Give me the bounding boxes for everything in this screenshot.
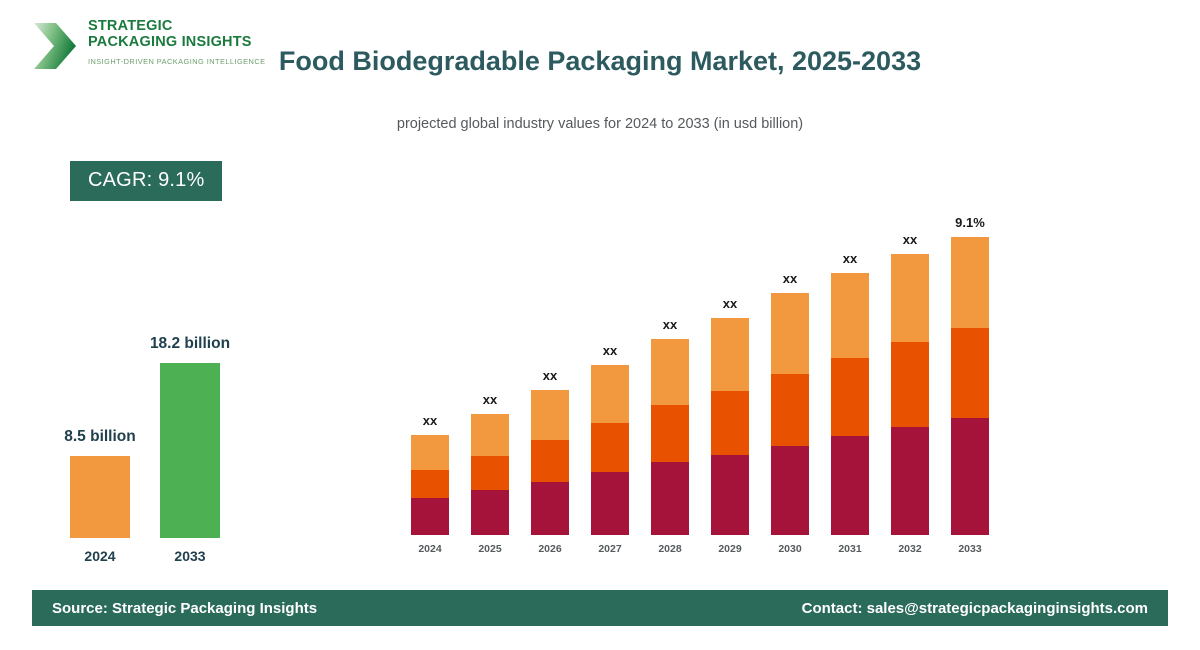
stacked-bar-column: xx2027 (580, 190, 640, 560)
stacked-bar-value-label: xx (880, 232, 940, 247)
comparison-bar-chart: 8.5 billion202418.2 billion2033 (40, 300, 320, 570)
stacked-bar-value-label: xx (400, 413, 460, 428)
stacked-bar-value-label: xx (520, 368, 580, 383)
stacked-bar-segment (651, 405, 689, 462)
comparison-value-label: 8.5 billion (20, 428, 180, 446)
stacked-bar-segment (591, 365, 629, 423)
chevron-arrow-icon (32, 20, 78, 72)
stacked-bar-segment (891, 342, 929, 427)
stacked-bar-segment (531, 440, 569, 482)
stacked-bar-value-label: xx (460, 392, 520, 407)
stacked-bar-year-label: 2024 (400, 543, 460, 555)
stacked-bar-segment (531, 390, 569, 440)
comparison-year-label: 2033 (110, 548, 270, 564)
stacked-bar-year-label: 2028 (640, 543, 700, 555)
stacked-bar-column: xx2024 (400, 190, 460, 560)
stacked-bar (771, 293, 809, 535)
stacked-bar-segment (591, 472, 629, 535)
stacked-bar-year-label: 2027 (580, 543, 640, 555)
stacked-bar-column: xx2031 (820, 190, 880, 560)
comparison-bar-fill (160, 363, 220, 538)
stacked-bar-value-label: xx (640, 317, 700, 332)
stacked-bar-year-label: 2030 (760, 543, 820, 555)
stacked-bar-column: xx2029 (700, 190, 760, 560)
comparison-value-label: 18.2 billion (110, 335, 270, 353)
footer-contact: Contact: sales@strategicpackaginginsight… (802, 600, 1148, 617)
stacked-bar-column: xx2032 (880, 190, 940, 560)
stacked-bar-segment (951, 237, 989, 328)
brand-tagline: INSIGHT-DRIVEN PACKAGING INTELLIGENCE (88, 57, 248, 66)
stacked-bar (711, 318, 749, 535)
comparison-bar-fill (70, 456, 130, 538)
stacked-bar-segment (771, 374, 809, 446)
stacked-bar-value-label: xx (700, 296, 760, 311)
stacked-bar-value-label: xx (580, 343, 640, 358)
stacked-bar (411, 435, 449, 535)
stacked-bar-segment (471, 414, 509, 456)
stacked-bar-segment (471, 456, 509, 490)
stacked-bar-segment (531, 482, 569, 535)
stacked-bar-segment (651, 339, 689, 405)
comparison-bar (70, 456, 130, 538)
stacked-bar-segment (891, 254, 929, 342)
stacked-bar-segment (831, 273, 869, 358)
stacked-bar-segment (471, 490, 509, 535)
infographic-page: STRATEGIC PACKAGING INSIGHTS INSIGHT-DRI… (0, 0, 1200, 650)
stacked-bar-segment (411, 470, 449, 498)
stacked-bar-year-label: 2032 (880, 543, 940, 555)
stacked-bar-year-label: 2033 (940, 543, 1000, 555)
cagr-badge: CAGR: 9.1% (70, 161, 222, 201)
stacked-bar-column: xx2028 (640, 190, 700, 560)
stacked-bar (951, 237, 989, 535)
stacked-bar-segment (651, 462, 689, 535)
stacked-bar-value-label: xx (820, 251, 880, 266)
stacked-bar-segment (411, 498, 449, 535)
stacked-bar-segment (891, 427, 929, 535)
stacked-bar-column: xx2026 (520, 190, 580, 560)
brand-name-line1: STRATEGIC (88, 18, 248, 34)
stacked-bar-segment (711, 391, 749, 455)
footer-source: Source: Strategic Packaging Insights (52, 600, 317, 617)
stacked-bar (891, 254, 929, 535)
stacked-bar-year-label: 2029 (700, 543, 760, 555)
stacked-bar-segment (951, 328, 989, 418)
stacked-bar-segment (831, 436, 869, 535)
stacked-bar-segment (711, 318, 749, 391)
stacked-bar (531, 390, 569, 535)
brand-wordmark: STRATEGIC PACKAGING INSIGHTS INSIGHT-DRI… (88, 18, 248, 66)
stacked-bar-value-label: xx (760, 271, 820, 286)
stacked-bar-year-label: 2031 (820, 543, 880, 555)
footer-bar: Source: Strategic Packaging Insights Con… (32, 590, 1168, 626)
stacked-bar-segment (711, 455, 749, 535)
page-title: Food Biodegradable Packaging Market, 202… (260, 42, 940, 80)
brand-logo: STRATEGIC PACKAGING INSIGHTS INSIGHT-DRI… (32, 16, 247, 76)
stacked-bar-segment (771, 446, 809, 535)
stacked-bar-segment (411, 435, 449, 470)
stacked-bar-column: xx2025 (460, 190, 520, 560)
stacked-bar-year-label: 2025 (460, 543, 520, 555)
stacked-bar (651, 339, 689, 535)
stacked-bar (591, 365, 629, 535)
stacked-bar-column: 9.1%2033 (940, 190, 1000, 560)
stacked-bar-column: xx2030 (760, 190, 820, 560)
stacked-bar (471, 414, 509, 535)
stacked-bar-year-label: 2026 (520, 543, 580, 555)
stacked-bar-segment (831, 358, 869, 436)
stacked-bar-segment (771, 293, 809, 374)
comparison-bar (160, 363, 220, 538)
stacked-bar (831, 273, 869, 535)
page-subtitle: projected global industry values for 202… (260, 116, 940, 132)
stacked-bar-value-label: 9.1% (940, 215, 1000, 230)
stacked-bar-segment (591, 423, 629, 472)
stacked-bar-segment (951, 418, 989, 535)
stacked-bar-chart: xx2024xx2025xx2026xx2027xx2028xx2029xx20… (400, 190, 1020, 560)
brand-name-line2: PACKAGING INSIGHTS (88, 34, 248, 50)
